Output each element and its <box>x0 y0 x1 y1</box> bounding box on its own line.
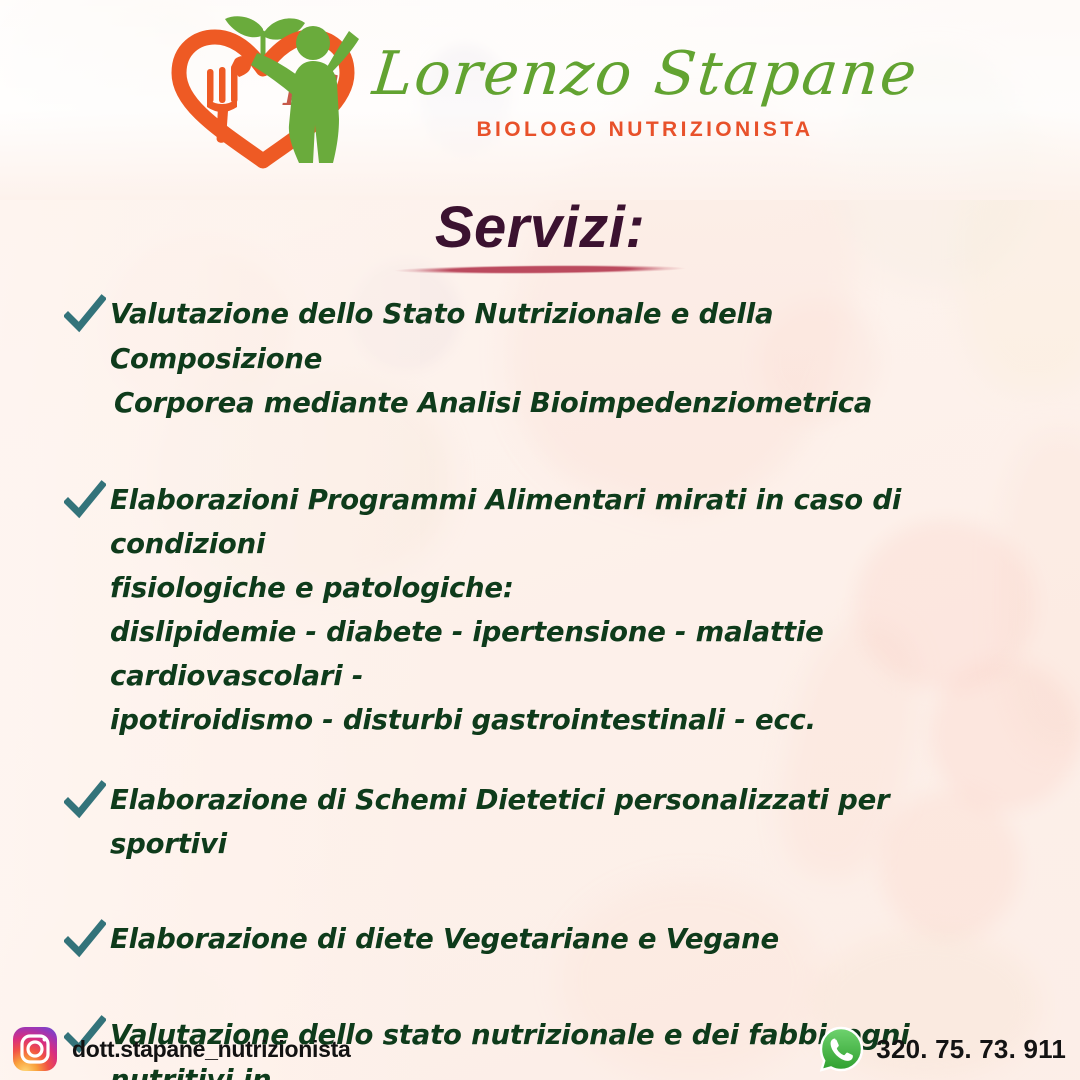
service-line: fisiologiche e patologiche: <box>110 566 990 610</box>
service-line: Elaborazione di Schemi Dietetici persona… <box>110 778 990 867</box>
service-text: Elaborazione di diete Vegetariane e Vega… <box>110 917 779 962</box>
check-mark-icon <box>64 780 106 820</box>
brand-logo-block: LS Lorenzo Stapane BIOLOGO NUTRIZIONISTA <box>0 10 1080 175</box>
brand-subtitle: BIOLOGO NUTRIZIONISTA <box>476 118 813 142</box>
service-line: Corporea mediante Analisi Bioimpedenziom… <box>110 381 990 426</box>
service-line: ipotiroidismo - disturbi gastrointestina… <box>110 698 990 742</box>
check-mark-icon <box>64 919 106 959</box>
service-line: Valutazione dello Stato Nutrizionale e d… <box>110 292 990 381</box>
services-list: Valutazione dello Stato Nutrizionale e d… <box>64 292 994 1080</box>
check-mark-icon <box>64 480 106 520</box>
brand-wordmark: Lorenzo Stapane BIOLOGO NUTRIZIONISTA <box>373 43 918 142</box>
check-mark-icon <box>64 294 106 334</box>
whatsapp-phone-number[interactable]: 320. 75. 73. 911 <box>876 1034 1066 1065</box>
instagram-handle[interactable]: dott.stapane_nutrizionista <box>72 1036 350 1063</box>
list-item: Elaborazioni Programmi Alimentari mirati… <box>64 478 994 742</box>
title-underline-brushstroke <box>394 264 686 275</box>
footer-bar: dott.stapane_nutrizionista 320. 75. 73. … <box>0 1018 1080 1080</box>
title-section: Servizi: <box>0 198 1080 274</box>
service-text: Elaborazioni Programmi Alimentari mirati… <box>110 478 990 742</box>
whatsapp-icon[interactable] <box>818 1026 864 1072</box>
whatsapp-contact[interactable]: 320. 75. 73. 911 <box>818 1026 1066 1072</box>
instagram-contact[interactable]: dott.stapane_nutrizionista <box>12 1026 350 1072</box>
list-item: Valutazione dello Stato Nutrizionale e d… <box>64 292 994 426</box>
poster-canvas: LS Lorenzo Stapane BIOLOGO NUTRIZIONISTA… <box>0 0 1080 1080</box>
heart-fork-leaf-person-logo: LS <box>163 13 363 173</box>
list-item: Elaborazione di diete Vegetariane e Vega… <box>64 917 994 962</box>
service-text: Valutazione dello Stato Nutrizionale e d… <box>110 292 990 426</box>
service-line: Elaborazione di diete Vegetariane e Vega… <box>110 917 779 962</box>
service-text: Elaborazione di Schemi Dietetici persona… <box>110 778 990 867</box>
page-title: Servizi: <box>435 198 645 259</box>
brand-name: Lorenzo Stapane <box>369 43 921 106</box>
list-item: Elaborazione di Schemi Dietetici persona… <box>64 778 994 867</box>
service-line: Elaborazioni Programmi Alimentari mirati… <box>110 478 990 566</box>
service-line: dislipidemie - diabete - ipertensione - … <box>110 610 990 698</box>
instagram-icon[interactable] <box>12 1026 58 1072</box>
